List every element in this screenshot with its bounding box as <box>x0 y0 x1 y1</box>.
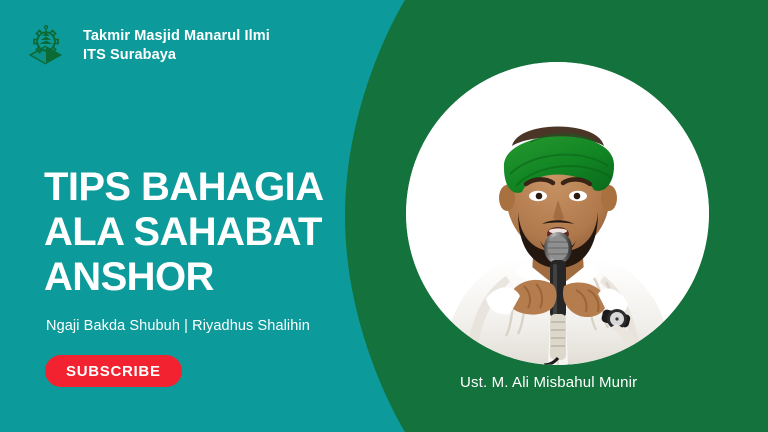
page-title: TIPS BAHAGIA ALA SAHABAT ANSHOR <box>44 165 323 301</box>
subtitle: Ngaji Bakda Shubuh | Riyadhus Shalihin <box>46 318 310 334</box>
subscribe-button[interactable]: SUBSCRIBE <box>45 355 182 387</box>
thumbnail-canvas: Takmir Masjid Manarul Ilmi ITS Surabaya … <box>0 0 768 432</box>
speaker-name: Ust. M. Ali Misbahul Munir <box>460 374 637 391</box>
mosque-gear-icon <box>22 22 70 70</box>
speaker-portrait-illustration <box>406 62 709 365</box>
brand-name: Takmir Masjid Manarul Ilmi ITS Surabaya <box>83 27 270 64</box>
speaker-photo-circle <box>406 62 709 365</box>
brand-lockup: Takmir Masjid Manarul Ilmi ITS Surabaya <box>22 22 270 70</box>
